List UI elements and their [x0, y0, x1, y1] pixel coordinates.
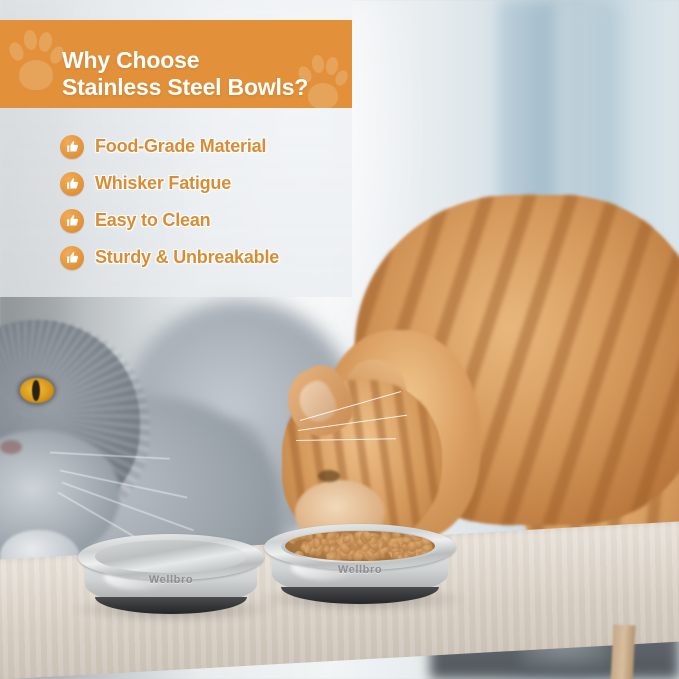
kibble-piece	[323, 544, 329, 553]
product-lifestyle-image: Wellbro Wellbro	[0, 0, 679, 679]
promo-info-panel: Why Choose Stainless Steel Bowls? Food-G…	[0, 0, 352, 297]
promo-title: Why Choose Stainless Steel Bowls?	[62, 47, 352, 101]
thumbs-up-icon	[60, 246, 84, 270]
feature-item: Easy to Clean	[60, 202, 360, 239]
feature-label: Easy to Clean	[95, 210, 210, 231]
right-bowl[interactable]: Wellbro	[264, 524, 456, 606]
grey-cat-pupil	[32, 380, 40, 401]
thumbs-up-icon	[60, 135, 84, 159]
kibble-piece	[294, 551, 304, 561]
left-bowl-interior	[95, 540, 248, 573]
promo-title-line1: Why Choose	[62, 47, 352, 74]
feature-item: Food-Grade Material	[60, 128, 360, 165]
feature-label: Whisker Fatigue	[95, 173, 231, 194]
thumbs-up-icon	[60, 172, 84, 196]
feature-label: Food-Grade Material	[95, 136, 266, 157]
feature-list: Food-Grade Material Whisker Fatigue Easy…	[60, 128, 360, 276]
left-bowl[interactable]: Wellbro	[78, 534, 264, 616]
promo-title-line2: Stainless Steel Bowls?	[62, 74, 352, 101]
cat-food-kibble	[285, 531, 435, 561]
promo-banner: Why Choose Stainless Steel Bowls?	[0, 20, 352, 108]
feature-item: Whisker Fatigue	[60, 165, 360, 202]
left-bowl-rubber-base	[95, 597, 248, 614]
thumbs-up-icon	[60, 209, 84, 233]
kibble-piece	[427, 548, 435, 556]
feature-item: Sturdy & Unbreakable	[60, 239, 360, 276]
paw-print-icon	[8, 26, 64, 96]
feature-label: Sturdy & Unbreakable	[95, 247, 279, 268]
table-leg	[610, 624, 635, 679]
orange-cat-eye	[318, 470, 340, 482]
right-bowl-rubber-base	[281, 587, 438, 604]
left-bowl-brand-logo: Wellbro	[78, 574, 264, 586]
grey-cat-nose	[0, 440, 22, 454]
right-bowl-brand-logo: Wellbro	[264, 564, 456, 576]
